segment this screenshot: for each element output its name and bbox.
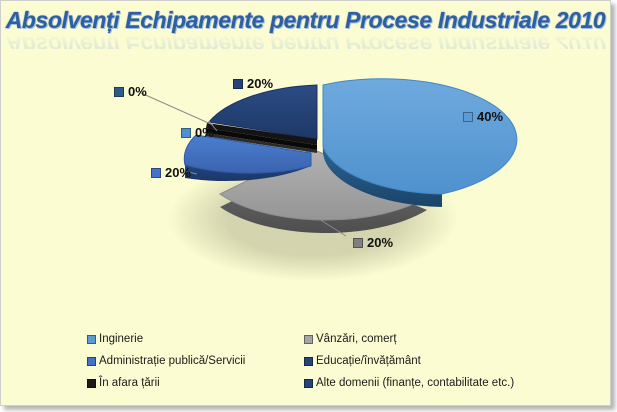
legend-item-in-afara-tarii[interactable]: În afara țării — [87, 377, 160, 389]
legend-swatch-inginerie — [87, 335, 96, 344]
legend-label: Educație/învățământ — [316, 355, 421, 367]
legend-swatch-administratie-publica — [87, 357, 96, 366]
chart-title-area: Absolvenți Echipamente pentru Procese In… — [1, 3, 610, 49]
pie-chart-svg — [1, 49, 610, 317]
legend-item-inginerie[interactable]: Inginerie — [87, 333, 143, 345]
data-label-swatch — [114, 87, 124, 97]
legend-swatch-educatie-invatamant — [304, 357, 313, 366]
legend-item-educatie-invatamant[interactable]: Educație/învățământ — [304, 355, 421, 367]
data-label-inginerie: 40% — [463, 109, 503, 124]
data-label-in-afara-tarii: 0% — [181, 125, 214, 140]
data-label-alte-domenii: 20% — [233, 76, 273, 91]
legend-label: Vânzări, comerț — [316, 333, 397, 345]
legend-item-vanzari-comert[interactable]: Vânzări, comerț — [304, 333, 397, 345]
legend-item-alte-domenii[interactable]: Alte domenii (finanțe, contabilitate etc… — [304, 377, 514, 389]
data-label-educatie-invatamant: 0% — [114, 84, 147, 99]
legend-label: În afara țării — [99, 377, 160, 389]
legend-swatch-in-afara-tarii — [87, 379, 96, 388]
legend-label: Administrație publică/Servicii — [99, 355, 245, 367]
legend-swatch-vanzari-comert — [304, 335, 313, 344]
data-label-swatch — [151, 168, 161, 178]
data-label-swatch — [233, 79, 243, 89]
page-title: Absolvenți Echipamente pentru Procese In… — [1, 7, 610, 34]
legend-item-administratie-publica[interactable]: Administrație publică/Servicii — [87, 355, 245, 367]
data-label-swatch — [463, 112, 473, 122]
data-label-administratie-publica: 20% — [151, 165, 191, 180]
data-label-swatch — [181, 128, 191, 138]
chart-frame: Absolvenți Echipamente pentru Procese In… — [0, 0, 611, 406]
legend-swatch-alte-domenii — [304, 379, 313, 388]
pie-chart-plot-area: 20% 0% 0% 20% 40% 20% — [1, 49, 610, 317]
legend-label: Inginerie — [99, 333, 143, 345]
chart-legend: Inginerie Vânzări, comerț Administrație … — [1, 323, 610, 403]
data-label-swatch — [353, 238, 363, 248]
legend-label: Alte domenii (finanțe, contabilitate etc… — [316, 377, 514, 389]
data-label-vanzari-comert: 20% — [353, 235, 393, 250]
